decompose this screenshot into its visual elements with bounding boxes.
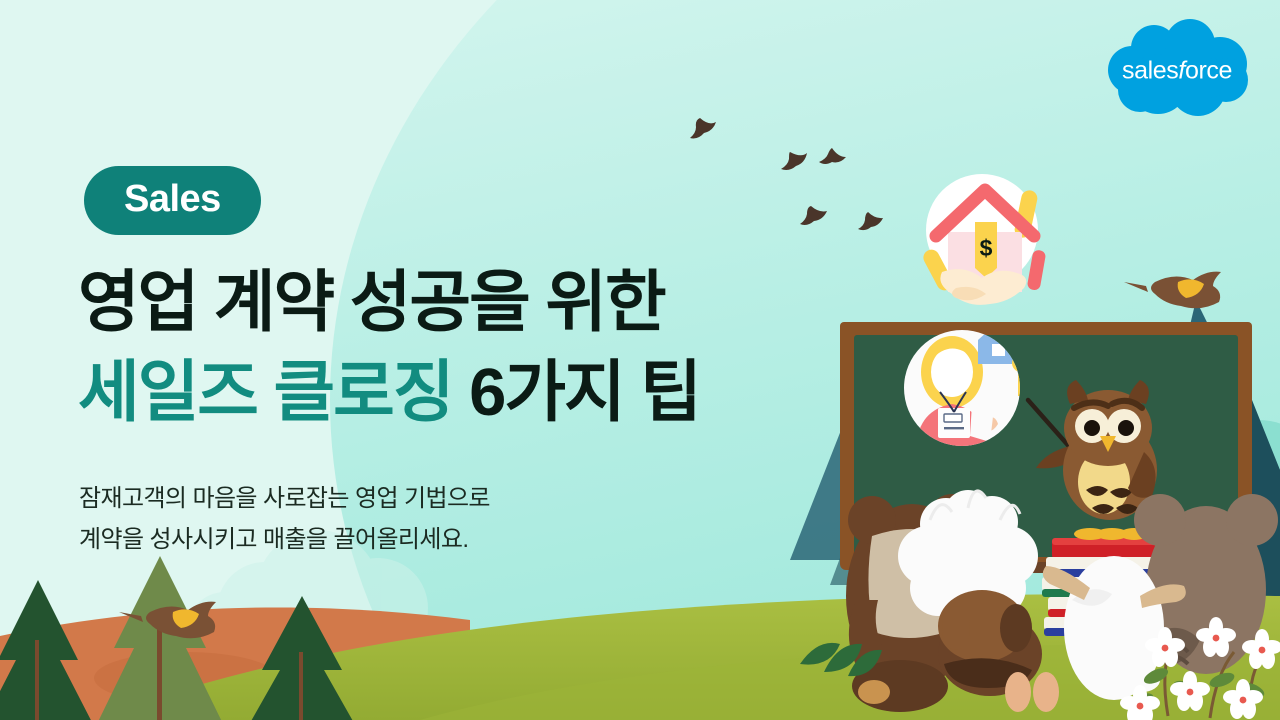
headline-line-2: 세일즈 클로징 6가지 팁: [78, 348, 818, 438]
category-badge-label: Sales: [124, 178, 221, 220]
salesforce-logo[interactable]: salesforce: [1102, 18, 1252, 124]
sf-word-tail: orce: [1185, 57, 1232, 85]
subtitle-line-1: 잠재고객의 마음을 사로잡는 영업 기법으로: [79, 478, 679, 519]
subtitle-line-2: 계약을 성사시키고 매출을 끌어올리세요.: [79, 519, 679, 560]
page-title: 영업 계약 성공을 위한 세일즈 클로징 6가지 팁: [78, 258, 818, 438]
salesforce-wordmark: salesforce: [1102, 57, 1252, 86]
text-content: Sales 영업 계약 성공을 위한 세일즈 클로징 6가지 팁 잠재고객의 마…: [0, 0, 820, 720]
promo-banner: $: [0, 0, 1280, 720]
house-price-tag-handshake-icon: $: [921, 174, 1047, 305]
category-badge[interactable]: Sales: [84, 166, 261, 235]
sf-word-lead: sales: [1122, 57, 1178, 85]
house-tag-dollar-sign: $: [980, 235, 993, 261]
headline-line-1: 영업 계약 성공을 위한: [78, 258, 818, 348]
headline-accent: 세일즈 클로징: [78, 355, 452, 430]
headline-line-2-tail: 6가지 팁: [452, 355, 699, 430]
subtitle: 잠재고객의 마음을 사로잡는 영업 기법으로 계약을 성사시키고 매출을 끌어올…: [79, 478, 679, 561]
dog-student: [938, 590, 1059, 712]
